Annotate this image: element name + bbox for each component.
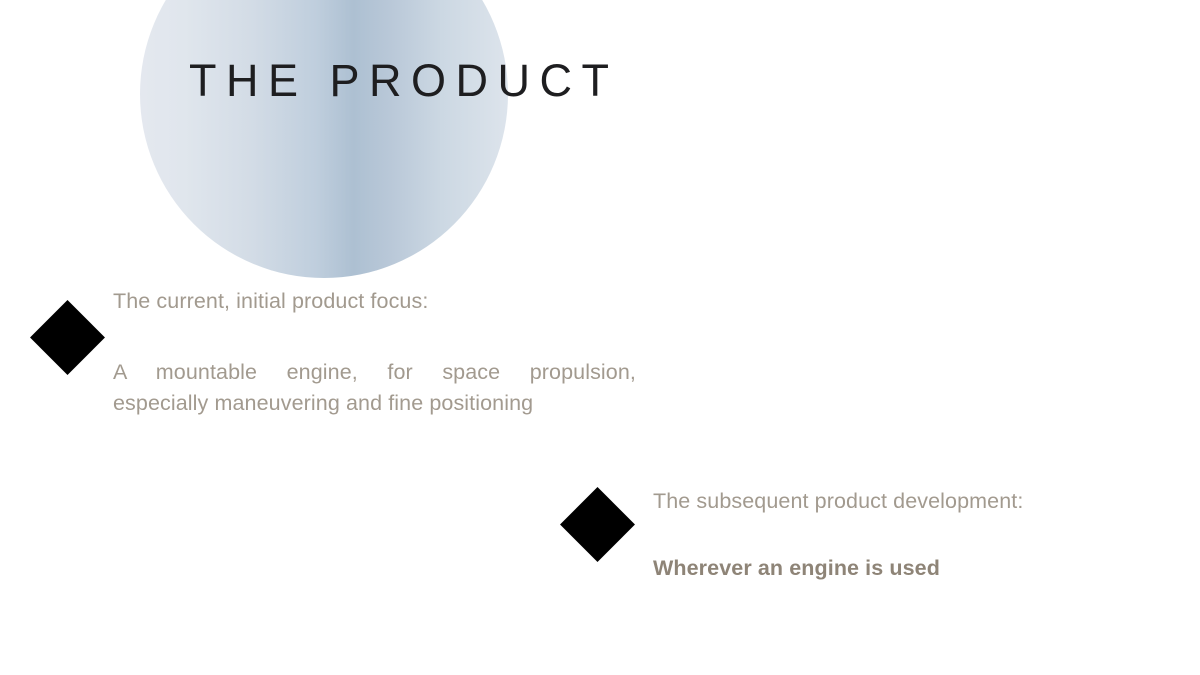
lower-lead-text: The subsequent product development:: [653, 487, 1113, 516]
hero-gradient-circle: [140, 0, 508, 278]
diamond-icon-upper: [30, 300, 105, 375]
upper-body-line-1: A mountable engine, for space propulsion…: [113, 357, 636, 388]
upper-body-text: A mountable engine, for space propulsion…: [113, 357, 636, 419]
lower-text-block: The subsequent product development: Wher…: [653, 487, 1113, 583]
upper-body-line-2: especially maneuvering and fine position…: [113, 388, 636, 419]
slide-canvas: THE PRODUCT The current, initial product…: [0, 0, 1200, 675]
lower-emphasis-text: Wherever an engine is used: [653, 554, 1113, 583]
upper-lead-text: The current, initial product focus:: [113, 287, 636, 316]
page-title: THE PRODUCT: [189, 57, 619, 104]
upper-text-block: The current, initial product focus: A mo…: [113, 287, 636, 419]
diamond-icon-lower: [560, 487, 635, 562]
